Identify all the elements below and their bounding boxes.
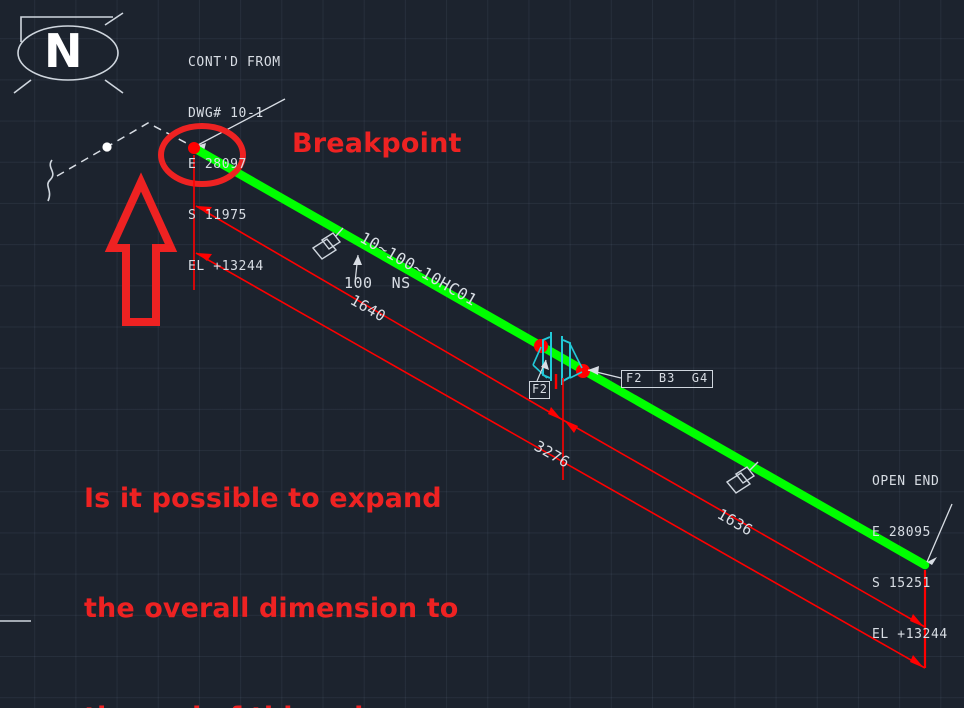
callout-contd-line-5: EL +13244 (188, 258, 281, 275)
callout-open-end-line-2: E 28095 (872, 524, 948, 541)
annotation-question-line-2: the overall dimension to (84, 591, 458, 628)
callout-contd-line-1: CONT'D FROM (188, 54, 281, 71)
pipe-support-symbol-2 (727, 462, 758, 493)
callout-open-end-line-4: EL +13244 (872, 626, 948, 643)
callout-open-end-line-1: OPEN END (872, 473, 948, 490)
north-symbol-letter: N (44, 28, 82, 74)
annotation-breakpoint-label: Breakpoint (292, 128, 462, 159)
callout-contd-line-2: DWG# 10-1 (188, 105, 281, 122)
component-tag-f2[interactable]: F2 (529, 381, 550, 399)
annotation-question-line-3: the end of this axis, (84, 700, 458, 708)
pipe-support-symbol-1 (313, 228, 343, 259)
callout-contd-line-4: S 11975 (188, 207, 281, 224)
annotation-question-block: Is it possible to expand the overall dim… (84, 408, 458, 708)
callout-contd-from: CONT'D FROM DWG# 10-1 E 28097 S 11975 EL… (188, 20, 281, 309)
component-tag-f2-b3-g4[interactable]: F2 B3 G4 (621, 370, 713, 388)
annotation-question-line-1: Is it possible to expand (84, 481, 458, 518)
callout-contd-line-3: E 28097 (188, 156, 281, 173)
pipe-size-label: 100 NS (344, 274, 411, 292)
callout-open-end: OPEN END E 28095 S 15251 EL +13244 (872, 439, 948, 677)
callout-arrow-up (111, 182, 171, 322)
cad-drawing-canvas[interactable]: N CONT'D FROM DWG# 10-1 E 28097 S 11975 … (0, 0, 964, 708)
callout-open-end-line-3: S 15251 (872, 575, 948, 592)
